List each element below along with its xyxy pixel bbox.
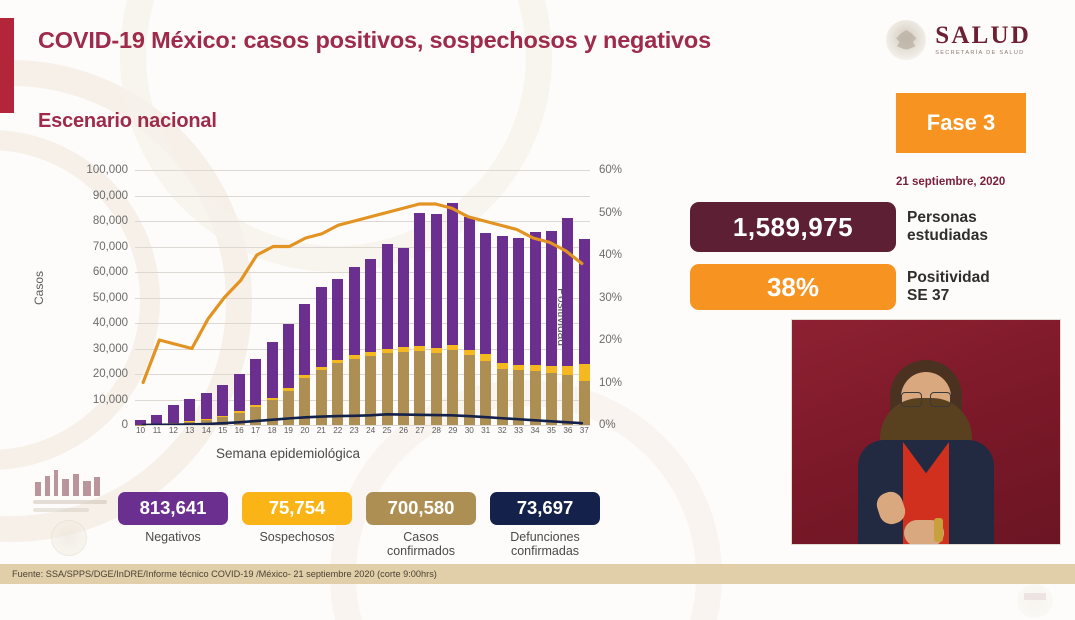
x-axis-tick-label: 14 [201, 426, 212, 435]
bar-column [414, 170, 425, 425]
bar-segment [464, 355, 475, 425]
legend-label: Sospechosos [242, 530, 352, 544]
bar-segment [562, 366, 573, 374]
x-axis-tick-label: 31 [480, 426, 491, 435]
bar-segment [579, 364, 590, 381]
footer-bar: Fuente: SSA/SPPS/DGE/InDRE/Informe técni… [0, 564, 1075, 584]
legend-label-line1: Negativos [118, 530, 228, 544]
bar-segment [365, 356, 376, 425]
emblem-line-1 [33, 500, 107, 504]
bar-column [201, 170, 212, 425]
y-axis-tick-label: 0 [122, 419, 135, 431]
bar-segment [316, 287, 327, 367]
source-text: Fuente: SSA/SPPS/DGE/InDRE/Informe técni… [0, 569, 437, 579]
bar-column [349, 170, 360, 425]
legend-item: 73,697Defuncionesconfirmadas [490, 492, 600, 559]
bar-segment [579, 381, 590, 425]
bar-segment [283, 391, 294, 425]
legend-value-chip: 73,697 [490, 492, 600, 525]
bar-segment [546, 373, 557, 425]
bar-segment [332, 363, 343, 425]
bar-segment [447, 203, 458, 345]
section-subtitle: Escenario nacional [38, 110, 217, 133]
y2-axis-tick-label: 20% [590, 334, 622, 346]
legend-value-chip: 813,641 [118, 492, 228, 525]
bar-segment [349, 359, 360, 425]
bar-segment [151, 424, 162, 425]
y-axis-tick-label: 60,000 [93, 266, 135, 278]
x-axis-tick-label: 36 [562, 426, 573, 435]
bar-segment [168, 405, 179, 423]
bar-column [250, 170, 261, 425]
studied-value: 1,589,975 [690, 202, 896, 252]
x-axis-tick-label: 22 [332, 426, 343, 435]
bar-segment [332, 279, 343, 360]
bar-segment [234, 413, 245, 425]
y-axis-tick-label: 100,000 [86, 164, 135, 176]
studied-stat-row: 1,589,975 Personas estudiadas [690, 202, 988, 252]
bar-column [332, 170, 343, 425]
bar-segment [579, 239, 590, 365]
bar-segment [414, 213, 425, 346]
bar-segment [217, 385, 228, 416]
legend-label-line1: Sospechosos [242, 530, 352, 544]
x-axis-tick-label: 15 [217, 426, 228, 435]
bar-segment [267, 342, 278, 398]
positivity-label: Positividad SE 37 [907, 269, 990, 306]
bar-segment [562, 375, 573, 425]
x-axis-tick-label: 29 [447, 426, 458, 435]
bar-segment [431, 353, 442, 425]
bar-segment [530, 232, 541, 365]
bar-segment [250, 359, 261, 406]
bar-column [299, 170, 310, 425]
page-title: COVID-19 México: casos positivos, sospec… [38, 27, 711, 54]
bar-segment [382, 244, 393, 349]
eagle-emblem-icon [886, 20, 926, 60]
bar-column [316, 170, 327, 425]
y2-axis-tick-label: 30% [590, 292, 622, 304]
bar-segment [513, 238, 524, 364]
x-axis-tick-label: 10 [135, 426, 146, 435]
y-axis-tick-label: 40,000 [93, 317, 135, 329]
bar-segment [267, 400, 278, 425]
bar-segment [431, 214, 442, 347]
y-axis-tick-label: 90,000 [93, 190, 135, 202]
bar-column [513, 170, 524, 425]
x-axis-tick-label: 13 [184, 426, 195, 435]
legend-item: 813,641Negativos [118, 492, 228, 559]
bar-segment [447, 350, 458, 425]
bar-column [382, 170, 393, 425]
x-axis-tick-label: 25 [382, 426, 393, 435]
bar-segment [546, 231, 557, 366]
bar-segment [546, 366, 557, 373]
bar-column [135, 170, 146, 425]
bar-segment [250, 407, 261, 425]
bar-column [431, 170, 442, 425]
y2-axis-tick-label: 40% [590, 249, 622, 261]
y-axis-tick-label: 50,000 [93, 292, 135, 304]
positivity-label-line1: Positividad [907, 269, 990, 287]
bar-column [579, 170, 590, 425]
bar-segment [382, 353, 393, 425]
x-axis-tick-label: 34 [530, 426, 541, 435]
x-axis-tick-label: 33 [513, 426, 524, 435]
bar-segment [201, 393, 212, 419]
legend-label-line2: confirmados [366, 544, 476, 558]
bar-segment [201, 420, 212, 425]
x-axis-tick-label: 17 [250, 426, 261, 435]
studied-label-line2: estudiadas [907, 227, 988, 245]
bar-column [234, 170, 245, 425]
x-axis-tick-label: 19 [283, 426, 294, 435]
bar-segment [497, 236, 508, 363]
y2-axis-tick-label: 10% [590, 377, 622, 389]
y-axis-tick-label: 80,000 [93, 215, 135, 227]
y-axis-tick-label: 20,000 [93, 368, 135, 380]
legend-label-line1: Defunciones [490, 530, 600, 544]
fase-badge: Fase 3 [896, 93, 1026, 153]
x-axis-tick-label: 11 [151, 426, 162, 435]
emblem-seal-icon [51, 520, 87, 556]
y2-axis-tick-label: 0% [590, 419, 616, 431]
legend-label: Negativos [118, 530, 228, 544]
bar-segment [217, 417, 228, 425]
bar-segment [480, 233, 491, 354]
government-emblem-watermark [33, 470, 119, 546]
chart-legend: 813,641Negativos75,754Sospechosos700,580… [118, 492, 600, 559]
bar-segment [184, 399, 195, 421]
report-date: 21 septiembre, 2020 [896, 176, 1005, 188]
x-axis-tick-label: 32 [497, 426, 508, 435]
x-axis-tick-label: 21 [316, 426, 327, 435]
x-axis-tick-label: 20 [299, 426, 310, 435]
x-axis-tick-label: 35 [546, 426, 557, 435]
bar-segment [365, 259, 376, 351]
bar-column [497, 170, 508, 425]
legend-value-chip: 700,580 [366, 492, 476, 525]
bar-column [562, 170, 573, 425]
y2-axis-tick-label: 50% [590, 207, 622, 219]
bar-segment [316, 370, 327, 425]
bar-column [398, 170, 409, 425]
positivity-label-line2: SE 37 [907, 287, 990, 305]
footer-seal-icon [1017, 584, 1053, 618]
x-axis-tick-label: 24 [365, 426, 376, 435]
bar-segment [562, 218, 573, 366]
bar-column [530, 170, 541, 425]
positivity-value: 38% [690, 264, 896, 310]
x-axis-tick-label: 12 [168, 426, 179, 435]
bar-segment [464, 217, 475, 349]
salud-logo-subtitle: SECRETARÍA DE SALUD [935, 51, 1031, 57]
bar-segment [530, 371, 541, 425]
bar-segment [414, 351, 425, 425]
emblem-skyline-icon [33, 470, 105, 496]
bar-segment [151, 415, 162, 424]
bar-segment [299, 378, 310, 425]
interpreter-watch [934, 518, 943, 542]
x-axis-title: Semana epidemiológica [216, 446, 360, 461]
left-accent-bar [0, 18, 14, 113]
positivity-stat-row: 38% Positividad SE 37 [690, 264, 990, 310]
legend-label: Casosconfirmados [366, 530, 476, 559]
bar-column [480, 170, 491, 425]
y-axis-tick-label: 30,000 [93, 343, 135, 355]
y-axis-tick-label: 10,000 [93, 394, 135, 406]
salud-logo: SALUD SECRETARÍA DE SALUD [886, 20, 1031, 60]
bar-column [168, 170, 179, 425]
bar-segment [349, 267, 360, 355]
glasses-icon [901, 392, 951, 405]
x-axis-tick-label: 30 [464, 426, 475, 435]
bar-segment [234, 374, 245, 411]
bar-column [217, 170, 228, 425]
bar-segment [497, 369, 508, 425]
y-axis-title: Casos [32, 271, 46, 305]
bar-column [184, 170, 195, 425]
bar-segment [283, 324, 294, 388]
y2-axis-tick-label: 60% [590, 164, 622, 176]
x-axis-tick-label: 23 [349, 426, 360, 435]
bar-segment [398, 352, 409, 425]
bar-segment [480, 361, 491, 425]
bar-series [135, 170, 590, 425]
legend-value-chip: 75,754 [242, 492, 352, 525]
emblem-line-2 [33, 508, 89, 512]
bar-segment [398, 248, 409, 347]
bar-column [464, 170, 475, 425]
slide-root: COVID-19 México: casos positivos, sospec… [0, 0, 1075, 620]
legend-label-line1: Casos [366, 530, 476, 544]
bar-segment [299, 304, 310, 375]
x-axis-tick-label: 26 [398, 426, 409, 435]
sign-language-video [792, 320, 1060, 544]
y-axis-tick-label: 70,000 [93, 241, 135, 253]
salud-logo-name: SALUD [935, 23, 1031, 48]
bar-segment [168, 423, 179, 425]
bar-column [151, 170, 162, 425]
bar-segment [184, 422, 195, 425]
x-axis-tick-label: 16 [234, 426, 245, 435]
legend-label: Defuncionesconfirmadas [490, 530, 600, 559]
epidemic-chart: Casos Positividad Semana epidemiológica … [60, 160, 685, 470]
bar-column [283, 170, 294, 425]
x-axis-ticks: 1011121314151617181920212223242526272829… [135, 426, 590, 435]
x-axis-tick-label: 37 [579, 426, 590, 435]
bar-segment [513, 370, 524, 425]
plot-area: 010,00020,00030,00040,00050,00060,00070,… [135, 170, 590, 425]
studied-label-line1: Personas [907, 209, 988, 227]
x-axis-tick-label: 18 [267, 426, 278, 435]
bar-column [267, 170, 278, 425]
legend-label-line2: confirmadas [490, 544, 600, 558]
legend-item: 75,754Sospechosos [242, 492, 352, 559]
bar-column [546, 170, 557, 425]
bar-column [447, 170, 458, 425]
x-axis-tick-label: 27 [414, 426, 425, 435]
bar-column [365, 170, 376, 425]
legend-item: 700,580Casosconfirmados [366, 492, 476, 559]
studied-label: Personas estudiadas [907, 209, 988, 246]
x-axis-tick-label: 28 [431, 426, 442, 435]
